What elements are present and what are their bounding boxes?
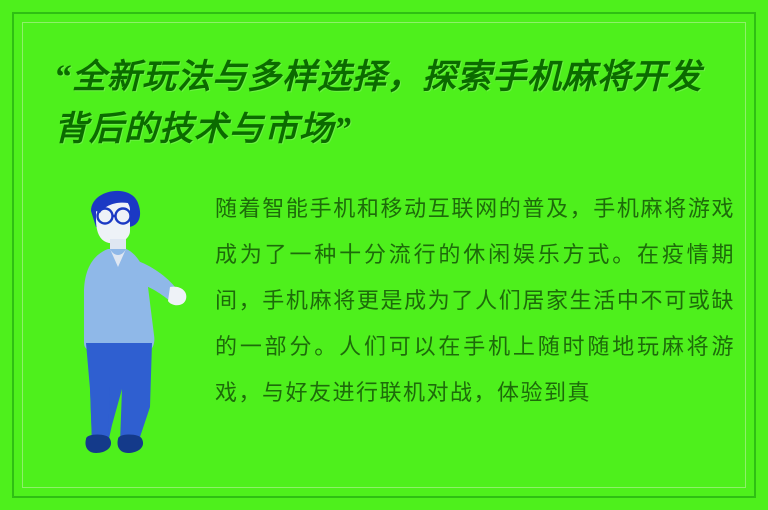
body-paragraph: 随着智能手机和移动互联网的普及，手机麻将游戏成为了一种十分流行的休闲娱乐方式。在… — [215, 186, 735, 416]
standing-person-illustration — [58, 175, 208, 475]
page-title: “全新玩法与多样选择，探索手机麻将开发背后的技术与市场” — [54, 52, 724, 156]
poster-canvas: “全新玩法与多样选择，探索手机麻将开发背后的技术与市场” — [0, 0, 768, 510]
